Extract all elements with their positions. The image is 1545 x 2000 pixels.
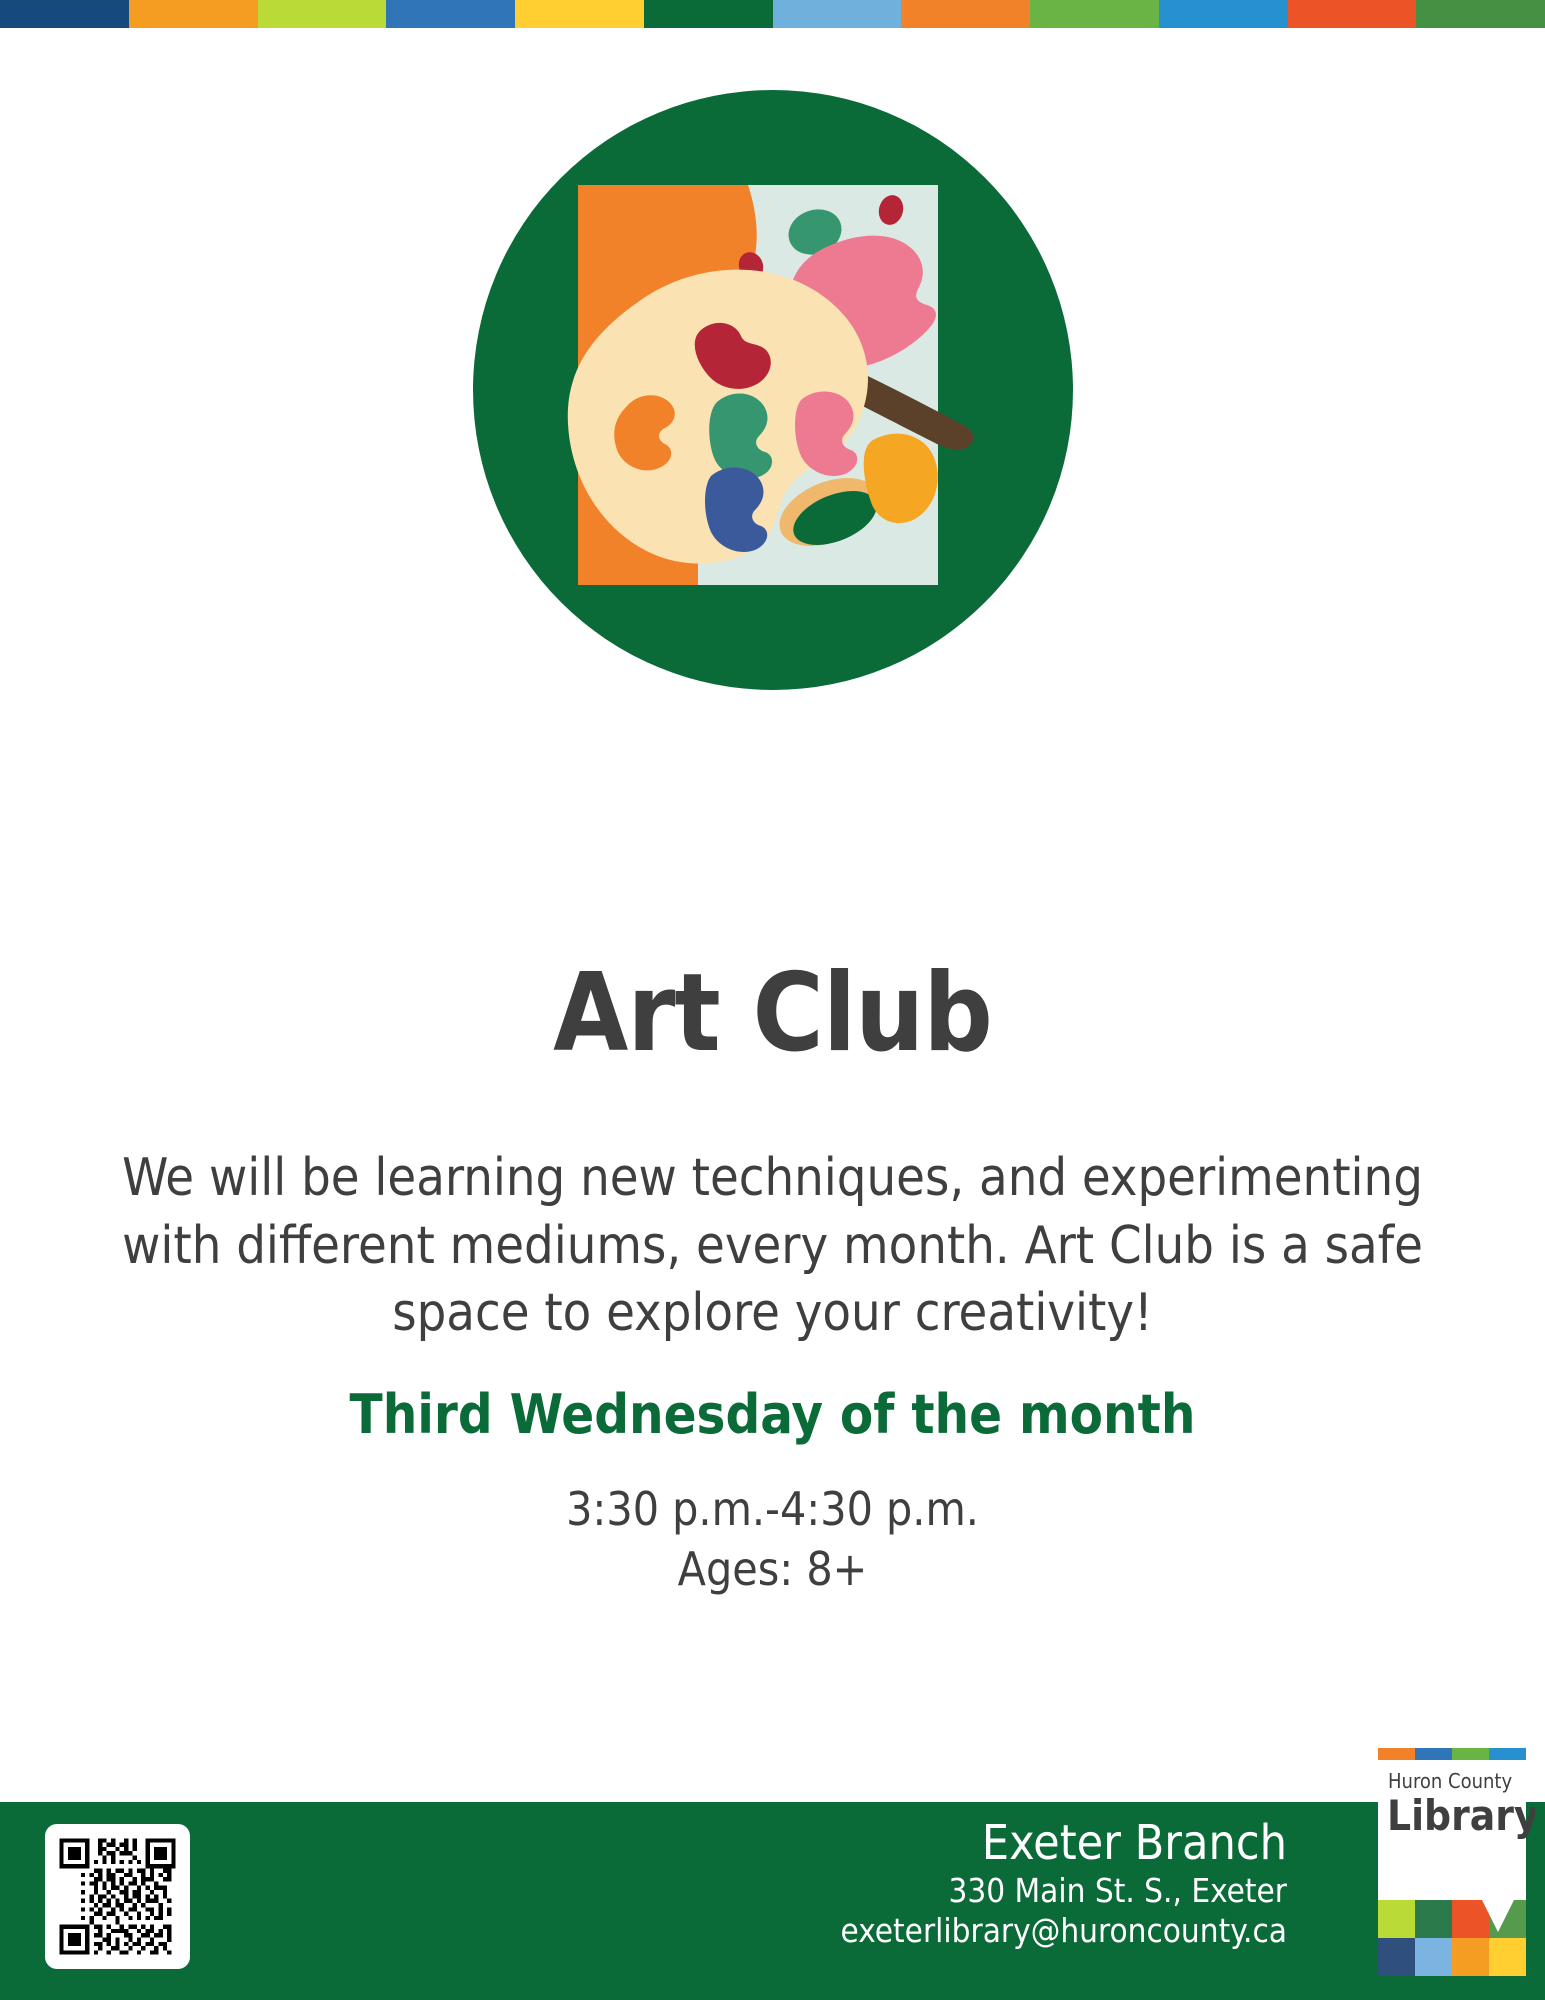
top-bar-segment-10: [1159, 0, 1288, 28]
description-text: We will be learning new techniques, and …: [108, 1145, 1438, 1348]
qr-code-icon[interactable]: [55, 1834, 180, 1959]
library-logo-icon: Huron County Library: [1370, 1738, 1535, 2000]
huron-county-library-logo: Huron County Library: [1370, 1738, 1535, 2000]
top-bar-segment-7: [773, 0, 902, 28]
logo-line-2: Library: [1387, 1791, 1535, 1840]
footer-bar: Exeter Branch 330 Main St. S., Exeter ex…: [0, 1802, 1545, 2000]
branch-address: 330 Main St. S., Exeter: [841, 1871, 1287, 1911]
footer-contact-block: Exeter Branch 330 Main St. S., Exeter ex…: [841, 1816, 1287, 1952]
event-details: 3:30 p.m.-4:30 p.m. Ages: 8+: [0, 1480, 1545, 1600]
event-time: 3:30 p.m.-4:30 p.m.: [0, 1480, 1545, 1540]
logo-line-1: Huron County: [1388, 1769, 1512, 1793]
art-palette-and-brush-illustration: [463, 80, 1083, 700]
event-ages: Ages: 8+: [0, 1540, 1545, 1600]
logo-top-strip: [1378, 1748, 1526, 1760]
branch-name: Exeter Branch: [841, 1816, 1287, 1871]
top-bar-segment-3: [258, 0, 387, 28]
top-bar-segment-1: [0, 0, 129, 28]
top-bar-segment-9: [1030, 0, 1159, 28]
page-title: Art Club: [0, 960, 1545, 1068]
top-bar-segment-6: [644, 0, 773, 28]
top-bar-segment-5: [515, 0, 644, 28]
logo-grid-row-2: [1378, 1938, 1526, 1976]
top-bar-segment-4: [386, 0, 515, 28]
qr-code[interactable]: [45, 1824, 190, 1969]
top-bar-segment-2: [129, 0, 258, 28]
schedule-heading: Third Wednesday of the month: [0, 1385, 1545, 1444]
top-bar-segment-8: [901, 0, 1030, 28]
branch-email[interactable]: exeterlibrary@huroncounty.ca: [841, 1911, 1287, 1951]
top-color-bar: [0, 0, 1545, 28]
illustration-container: [0, 80, 1545, 720]
top-bar-segment-12: [1416, 0, 1545, 28]
top-bar-segment-11: [1288, 0, 1417, 28]
poster-root: Art Club We will be learning new techniq…: [0, 0, 1545, 2000]
